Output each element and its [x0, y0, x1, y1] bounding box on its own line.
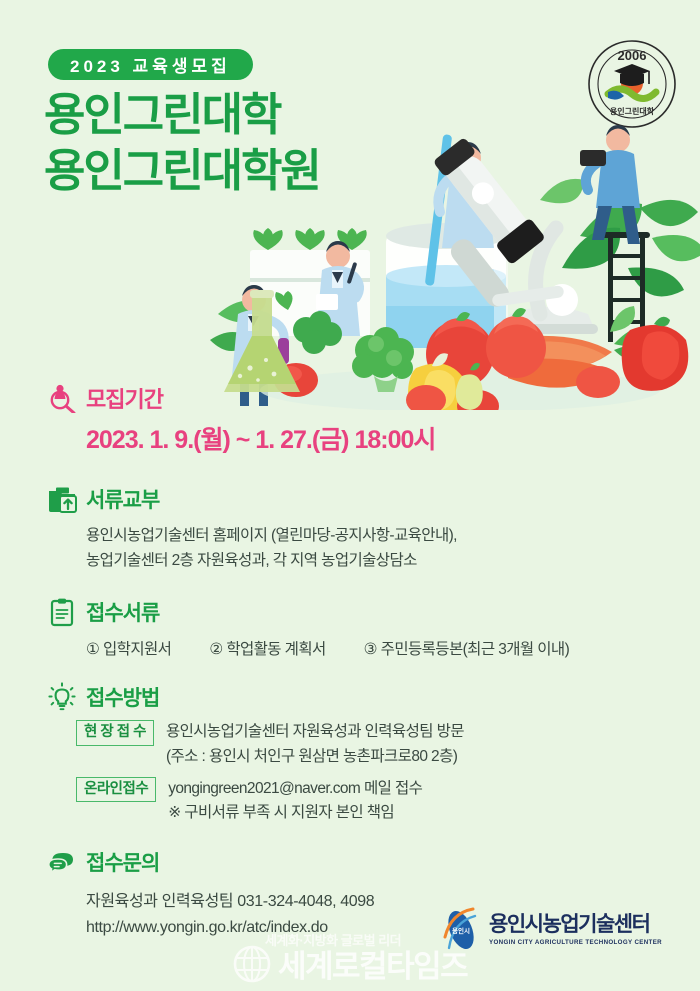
section-period-value: 2023. 1. 9.(월) ~ 1. 27.(금) 18:00시 — [0, 420, 700, 456]
online-line-2: ※ 구비서류 부족 시 지원자 본인 책임 — [168, 801, 422, 826]
section-inquiry-title: 접수문의 — [86, 847, 159, 877]
agency-name-en: YONGIN CITY AGRICULTURE TECHNOLOGY CENTE… — [489, 939, 662, 946]
svg-text:용인그린대학: 용인그린대학 — [610, 106, 655, 116]
application-method-online: 온라인접수 yongingreen2021@naver.com 메일 접수 ※ … — [76, 777, 700, 827]
magnifier-person-icon — [47, 383, 77, 413]
svg-text:2006: 2006 — [618, 48, 647, 63]
speech-bubbles-icon — [47, 847, 77, 877]
agency-name-kr: 용인시농업기술센터 — [489, 914, 662, 936]
section-period: 모집기간 2023. 1. 9.(월) ~ 1. 27.(금) 18:00시 — [0, 382, 700, 456]
required-document-item: ③ 주민등록등본(최근 3개월 이내) — [364, 637, 569, 659]
document-issue-line-1: 용인시농업기술센터 홈페이지 (열린마당-공지사항-교육안내), — [0, 523, 700, 548]
agency-logo-text: 용인시농업기술센터 YONGIN CITY AGRICULTURE TECHNO… — [489, 914, 662, 945]
bell-pepper-red — [622, 317, 689, 391]
globe-icon — [232, 944, 272, 984]
svg-text:용인시: 용인시 — [452, 926, 470, 935]
section-document-issue-header: 서류교부 — [0, 484, 700, 514]
online-line-1: yongingreen2021@naver.com 메일 접수 — [168, 777, 422, 802]
section-period-header: 모집기간 — [0, 382, 700, 414]
section-document-issue: 서류교부 용인시농업기술센터 홈페이지 (열린마당-공지사항-교육안내), 농업… — [0, 484, 700, 573]
recruitment-badge-label: 2023 교육생모집 — [70, 52, 231, 77]
section-inquiry-header: 접수문의 — [0, 847, 700, 877]
poster: 2023 교육생모집 용인그린대학 용인그린대학원 2006 용인그린대학 — [0, 0, 700, 991]
watermark-name: 세계로컬타임즈 — [278, 941, 467, 986]
application-method-list: 현 장 접 수 용인시농업기술센터 자원육성과 인력육성팀 방문 (주소 : 용… — [0, 720, 700, 826]
agency-logo: 용인시 용인시농업기술센터 YONGIN CITY AGRICULTURE TE… — [440, 907, 662, 953]
clipboard-icon — [47, 597, 77, 627]
watermark-logo: 세계로컬타임즈 — [232, 941, 467, 986]
lightbulb-icon — [47, 682, 77, 712]
section-required-documents: 접수서류 ① 입학지원서 ② 학업활동 계획서 ③ 주민등록등본(최근 3개월 … — [0, 597, 700, 659]
onsite-line-1: 용인시농업기술센터 자원육성과 인력육성팀 방문 — [166, 720, 464, 745]
application-method-onsite-tag: 현 장 접 수 — [76, 720, 154, 746]
agricultural-science-illustration — [210, 118, 700, 410]
section-application-method-header: 접수방법 — [0, 682, 700, 712]
required-documents-list: ① 입학지원서 ② 학업활동 계획서 ③ 주민등록등본(최근 3개월 이내) — [0, 637, 700, 659]
university-seal-icon: 2006 용인그린대학 — [586, 38, 678, 130]
document-issue-line-2: 농업기술센터 2층 자원육성과, 각 지역 농업기술상담소 — [0, 548, 700, 573]
application-method-onsite-body: 용인시농업기술센터 자원육성과 인력육성팀 방문 (주소 : 용인시 처인구 원… — [166, 720, 464, 770]
section-period-title: 모집기간 — [86, 382, 163, 414]
application-method-online-body: yongingreen2021@naver.com 메일 접수 ※ 구비서류 부… — [168, 777, 422, 827]
required-document-item: ① 입학지원서 — [86, 637, 171, 659]
section-required-documents-title: 접수서류 — [86, 597, 159, 627]
required-document-item: ② 학업활동 계획서 — [209, 637, 325, 659]
recruitment-badge: 2023 교육생모집 — [48, 49, 253, 80]
section-required-documents-header: 접수서류 — [0, 597, 700, 627]
application-method-onsite: 현 장 접 수 용인시농업기술센터 자원육성과 인력육성팀 방문 (주소 : 용… — [76, 720, 700, 770]
section-application-method-title: 접수방법 — [86, 682, 159, 712]
application-method-online-tag: 온라인접수 — [76, 777, 156, 803]
folder-upload-icon — [47, 484, 77, 514]
section-document-issue-title: 서류교부 — [86, 484, 159, 514]
onsite-line-2: (주소 : 용인시 처인구 원삼면 농촌파크로80 2층) — [166, 745, 464, 770]
section-application-method: 접수방법 현 장 접 수 용인시농업기술센터 자원육성과 인력육성팀 방문 (주… — [0, 682, 700, 833]
